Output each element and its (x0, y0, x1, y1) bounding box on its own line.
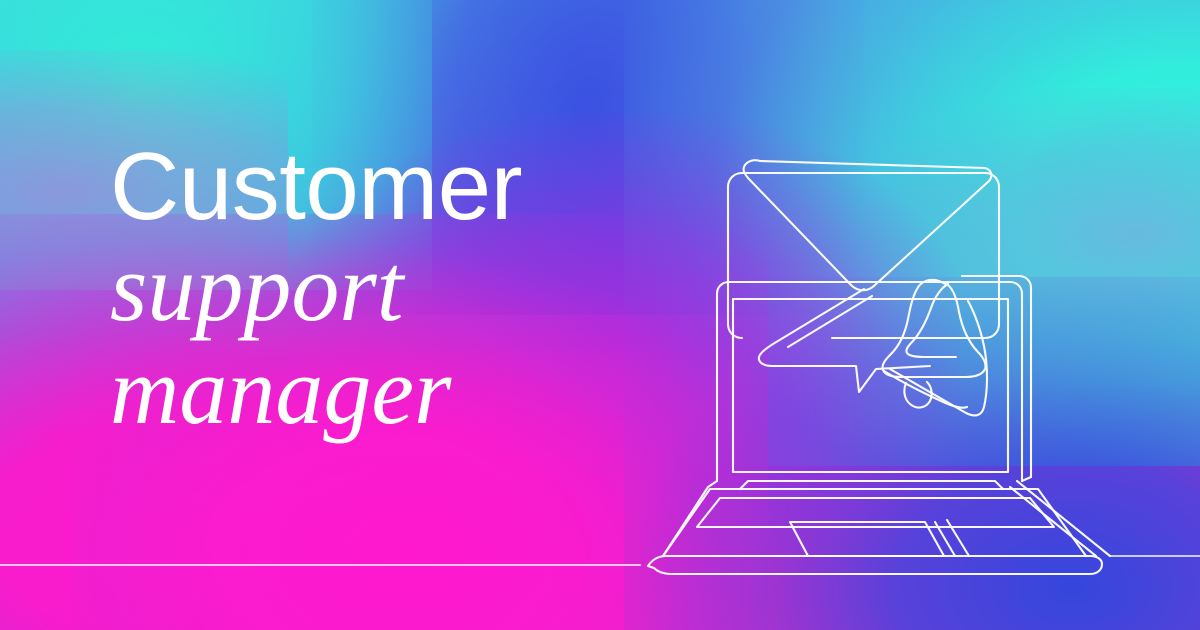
laptop-base-capsule (648, 556, 1102, 574)
envelope-flap (744, 160, 992, 290)
headline-line-1: Customer (110, 140, 750, 234)
banner-canvas: Customer support manager (0, 0, 1200, 630)
headline-line-3: manager (110, 341, 750, 442)
notification-bell-sweep-2 (890, 301, 987, 415)
laptop-screen-outer (717, 282, 1022, 481)
laptop-hinge-notch (740, 481, 1003, 489)
laptop-screen-inner-bezel (733, 299, 1008, 472)
laptop-trackpad-edge-2 (947, 520, 969, 556)
headline-block: Customer support manager (110, 140, 750, 442)
laptop-stand-wedge (1017, 481, 1110, 556)
notification-bell-body (882, 280, 985, 377)
speech-bubble-top-edge (788, 296, 872, 347)
headline-line-2: support (110, 238, 750, 339)
laptop-screen-right-edge (1022, 477, 1031, 481)
